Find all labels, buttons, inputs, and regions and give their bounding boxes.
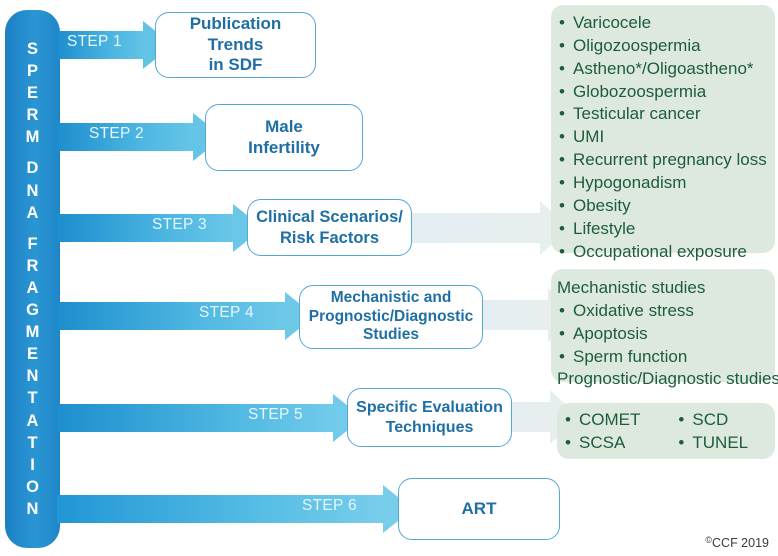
list-item: Varicocele: [557, 12, 767, 35]
box-text: Specific Evaluation Techniques: [356, 398, 503, 437]
vbar-letter: A: [27, 277, 39, 299]
box-publication-trends[interactable]: Publication Trends in SDF: [155, 12, 316, 78]
box-line: Male: [248, 117, 320, 138]
list-item: SCD: [676, 409, 748, 432]
box-clinical-scenarios[interactable]: Clinical Scenarios/ Risk Factors: [247, 199, 412, 256]
box-text: Mechanistic and Prognostic/Diagnostic St…: [309, 289, 474, 346]
vbar-letter: G: [26, 299, 39, 321]
list-item: UMI: [557, 126, 767, 149]
list-item: COMET: [563, 409, 640, 432]
vbar-letter: N: [27, 498, 39, 520]
vbar-letter: I: [30, 454, 35, 476]
box-line: Infertility: [248, 138, 320, 159]
vbar-letter: P: [27, 60, 38, 82]
list-item: SCSA: [563, 432, 640, 455]
diagram-canvas: S P E R M D N A F R A G M E N T A T I O …: [0, 0, 778, 556]
box-art[interactable]: ART: [398, 478, 560, 540]
list-item: Occupational exposure: [557, 241, 767, 264]
vbar-letter: E: [27, 82, 38, 104]
box-text: Publication Trends in SDF: [162, 14, 309, 76]
vbar-letter: N: [27, 180, 39, 202]
sperm-dna-fragmentation-bar: S P E R M D N A F R A G M E N T A T I O …: [5, 10, 60, 548]
list-item: Oligozoospermia: [557, 35, 767, 58]
studies-footer: Prognostic/Diagnostic studies: [557, 368, 767, 391]
box-line: Mechanistic and: [309, 289, 474, 308]
vbar-letter: A: [27, 202, 39, 224]
box-text: Male Infertility: [248, 117, 320, 158]
panel-techniques: COMET SCSA SCD TUNEL: [557, 403, 775, 459]
vbar-letter: R: [27, 255, 39, 277]
panel-clinical-scenarios: Varicocele Oligozoospermia Astheno*/Olig…: [551, 5, 775, 253]
techniques-column-1: COMET SCSA: [563, 409, 640, 455]
box-line: Specific Evaluation: [356, 398, 503, 418]
list-item: Hypogonadism: [557, 172, 767, 195]
box-mechanistic-prognostic[interactable]: Mechanistic and Prognostic/Diagnostic St…: [299, 285, 483, 349]
techniques-columns: COMET SCSA SCD TUNEL: [563, 409, 767, 455]
box-line: Techniques: [356, 418, 503, 438]
vbar-letter: M: [26, 126, 40, 148]
studies-heading: Mechanistic studies: [557, 277, 767, 300]
box-text: Clinical Scenarios/ Risk Factors: [256, 207, 403, 247]
step-label-1: STEP 1: [67, 33, 122, 51]
box-male-infertility[interactable]: Male Infertility: [205, 104, 363, 171]
copyright-text: CCF 2019: [712, 536, 769, 550]
vbar-letter: R: [27, 104, 39, 126]
studies-list: Oxidative stress Apoptosis Sperm functio…: [557, 300, 767, 369]
step-label-5: STEP 5: [248, 406, 303, 424]
techniques-column-2: SCD TUNEL: [676, 409, 748, 455]
box-line: Clinical Scenarios/: [256, 207, 403, 227]
connector-shaft: [400, 213, 540, 243]
vertical-title-letters: S P E R M D N A F R A G M E N T A T I O …: [26, 38, 40, 520]
vbar-letter: M: [26, 321, 40, 343]
list-item: Astheno*/Oligoastheno*: [557, 58, 767, 81]
step-label-2: STEP 2: [89, 125, 144, 143]
clinical-scenario-list: Varicocele Oligozoospermia Astheno*/Olig…: [557, 12, 767, 263]
box-line: ART: [462, 499, 497, 520]
step-arrow-3: STEP 3: [57, 203, 263, 253]
vbar-letter: D: [27, 157, 39, 179]
box-line: Risk Factors: [256, 228, 403, 248]
box-line: Prognostic/Diagnostic: [309, 308, 474, 327]
list-item: Globozoospermia: [557, 81, 767, 104]
vbar-letter: S: [27, 38, 38, 60]
panel-studies: Mechanistic studies Oxidative stress Apo…: [551, 269, 775, 382]
list-item: TUNEL: [676, 432, 748, 455]
copyright-notice: ©CCF 2019: [705, 535, 769, 550]
list-item: Apoptosis: [557, 323, 767, 346]
vbar-letter: T: [27, 432, 37, 454]
box-line: Studies: [309, 326, 474, 345]
box-specific-evaluation[interactable]: Specific Evaluation Techniques: [347, 388, 512, 447]
step-label-6: STEP 6: [302, 497, 357, 515]
list-item: Oxidative stress: [557, 300, 767, 323]
list-item: Lifestyle: [557, 218, 767, 241]
vbar-letter: O: [26, 476, 39, 498]
step-arrow-2: STEP 2: [57, 112, 223, 162]
list-item: Obesity: [557, 195, 767, 218]
box-line: Publication Trends: [162, 14, 309, 55]
box-line: in SDF: [162, 55, 309, 76]
connector-arrow-step3: [400, 201, 570, 255]
list-item: Sperm function: [557, 346, 767, 369]
step-arrow-4: STEP 4: [57, 291, 315, 341]
list-item: Testicular cancer: [557, 103, 767, 126]
step-arrow-6: STEP 6: [57, 484, 413, 534]
vbar-letter: N: [27, 365, 39, 387]
step-label-3: STEP 3: [152, 216, 207, 234]
vbar-letter: T: [27, 387, 37, 409]
step-label-4: STEP 4: [199, 304, 254, 322]
vbar-letter: F: [27, 233, 37, 255]
list-item: Recurrent pregnancy loss: [557, 149, 767, 172]
vbar-letter: E: [27, 343, 38, 365]
box-text: ART: [462, 499, 497, 520]
step-arrow-5: STEP 5: [57, 393, 363, 443]
vbar-letter: A: [27, 410, 39, 432]
